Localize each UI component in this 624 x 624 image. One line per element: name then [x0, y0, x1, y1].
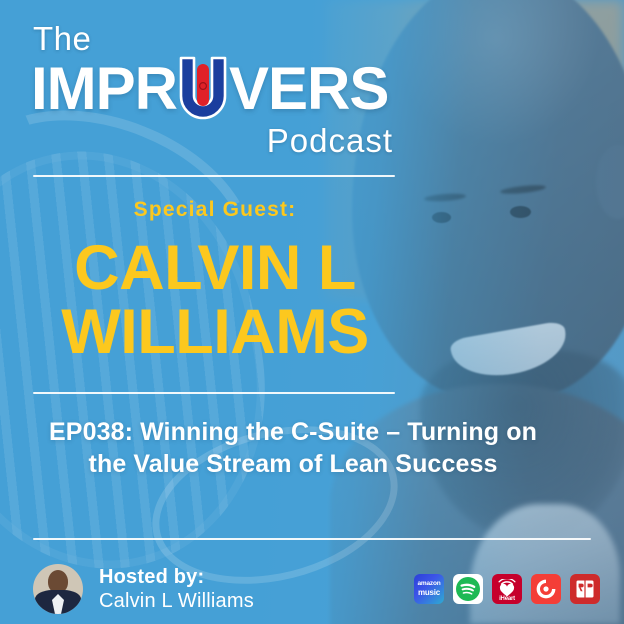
- podcast-cover-art: The IMPR VERS Podcast Special Guest: CAL…: [0, 0, 624, 624]
- host-bar: Hosted by: Calvin L Williams amazon musi…: [0, 540, 624, 624]
- amazon-music-line-2: music: [418, 589, 440, 597]
- amazon-music-line-1: amazon: [417, 581, 440, 588]
- host-name: Calvin L Williams: [99, 589, 254, 613]
- guest-name-line-2: WILLIAMS: [0, 300, 430, 364]
- logo-word-impr: IMPR: [31, 59, 177, 119]
- logo-wordmark: IMPR VERS: [31, 56, 624, 122]
- guest-name: CALVIN L WILLIAMS: [0, 236, 430, 365]
- special-guest-label: Special Guest:: [0, 199, 430, 220]
- platform-badges: amazon music: [414, 574, 600, 604]
- episode-title: EP038: Winning the C-Suite – Turning on …: [33, 394, 553, 481]
- podcast-logo: The IMPR VERS Podcast: [0, 0, 624, 157]
- hosted-by-label: Hosted by:: [99, 565, 254, 589]
- guest-section: Special Guest: CALVIN L WILLIAMS: [0, 177, 430, 365]
- spotify-icon[interactable]: [453, 574, 483, 604]
- radiopublic-icon[interactable]: [570, 574, 600, 604]
- amazon-music-icon[interactable]: amazon music: [414, 574, 444, 604]
- host-text: Hosted by: Calvin L Williams: [99, 565, 254, 614]
- iheart-label: iHeart: [492, 596, 522, 602]
- iheart-icon[interactable]: iHeart: [492, 574, 522, 604]
- pocket-casts-icon[interactable]: [531, 574, 561, 604]
- logo-word-vers: VERS: [229, 59, 388, 119]
- logo-podcast-text: Podcast: [33, 124, 393, 157]
- guest-name-line-1: CALVIN L: [0, 236, 430, 300]
- logo-the-text: The: [33, 22, 624, 55]
- cover-content: The IMPR VERS Podcast Special Guest: CAL…: [0, 0, 624, 624]
- microphone-u-logo-icon: [176, 56, 230, 122]
- host-avatar: [33, 564, 83, 614]
